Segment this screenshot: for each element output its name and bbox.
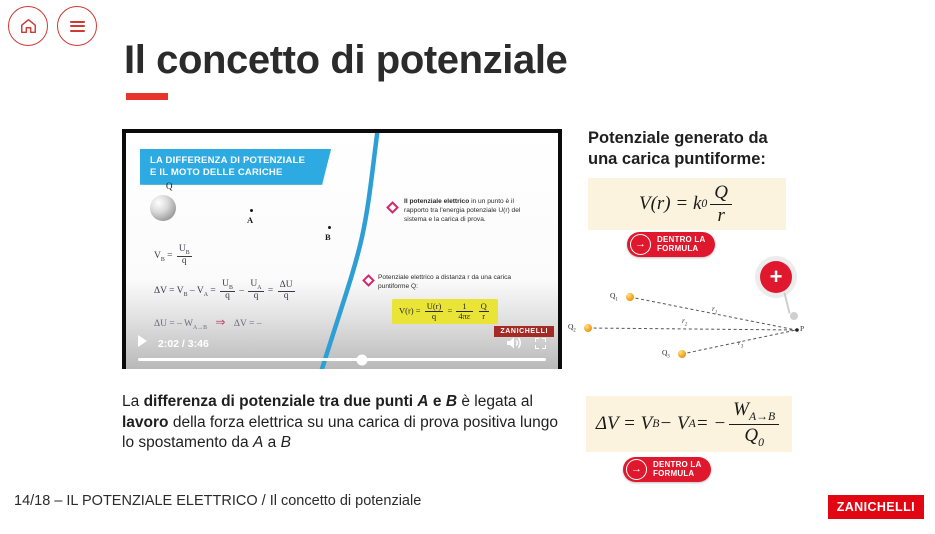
video-player[interactable]: LA DIFFERENZA DI POTENZIALE E IL MOTO DE…: [122, 129, 562, 369]
video-banner: LA DIFFERENZA DI POTENZIALE E IL MOTO DE…: [140, 149, 331, 185]
formula-box-potential: V(r) = k0 Q r: [588, 178, 786, 230]
video-annotation-1-bold: Il potenziale elettrico: [404, 198, 469, 205]
marker-diamond-1: [386, 201, 399, 214]
source-charge-sphere: [150, 195, 176, 221]
arrow-right-icon: →: [635, 239, 646, 250]
play-icon[interactable]: [138, 335, 147, 347]
zoom-in-button[interactable]: +: [755, 256, 797, 298]
home-icon: [20, 18, 37, 34]
video-formula-1: VB = UBq: [154, 245, 297, 267]
zoom-connector-dot: [790, 312, 798, 320]
video-progress-bar[interactable]: [138, 358, 546, 361]
video-annotation-2: Potenziale elettrico a distanza r da una…: [378, 273, 518, 291]
caption-bold3: lavoro: [122, 414, 169, 431]
right-heading: Potenziale generato da una carica puntif…: [588, 128, 828, 169]
video-controls[interactable]: 2:02 / 3:46 ZANICHELLI: [126, 325, 558, 369]
dentro-la-formula-button-2[interactable]: → DENTRO LA FORMULA: [623, 457, 711, 482]
formula2-sub-b: B: [652, 417, 659, 431]
caption-part4: a: [263, 434, 280, 451]
video-time-display: 2:02 / 3:46: [158, 338, 209, 350]
footer-breadcrumb: 14/18 – IL POTENZIALE ELETTRICO / Il con…: [14, 493, 421, 509]
video-watermark: ZANICHELLI: [494, 326, 554, 337]
charge-dot-3: [678, 350, 686, 358]
charge-label-1: Q1: [610, 291, 618, 303]
plus-icon: +: [760, 261, 792, 293]
slide: Il concetto di potenziale LA DIFFERENZA …: [0, 0, 935, 534]
dentro-line2: FORMULA: [657, 245, 705, 254]
video-caption: La differenza di potenziale tra due punt…: [122, 392, 564, 454]
formula2-lhs: ΔV = V: [596, 413, 652, 435]
distance-label-2: r2: [682, 316, 687, 328]
arrow-circle-icon: →: [626, 459, 647, 480]
source-charge-label: Q: [166, 181, 173, 191]
video-banner-line2: E IL MOTO DELLE CARICHE: [150, 167, 305, 179]
title-underline: [126, 93, 168, 100]
formula1-lhs: V(r) = k: [639, 193, 701, 215]
caption-part1: La: [122, 393, 144, 410]
caption-italic4: B: [281, 434, 291, 451]
volume-icon[interactable]: [506, 336, 522, 350]
charge-label-3: Q3: [662, 348, 670, 360]
caption-italic1: A: [417, 393, 428, 410]
point-b-dot: [328, 226, 331, 229]
formula2-numerator: WA→B: [729, 400, 779, 425]
formula2-minus: − V: [659, 413, 688, 435]
marker-diamond-2: [362, 274, 375, 287]
dentro-la-formula-button-1[interactable]: → DENTRO LA FORMULA: [627, 232, 715, 257]
formula2-denominator: Q0: [740, 425, 768, 449]
right-heading-line2: una carica puntiforme:: [588, 149, 828, 170]
right-heading-line1: Potenziale generato da: [588, 128, 828, 149]
distance-label-3: r3: [738, 338, 743, 350]
hamburger-menu-icon: [70, 21, 85, 32]
arrow-circle-icon: →: [630, 234, 651, 255]
formula1-sub: 0: [701, 197, 707, 211]
formula1-denominator: r: [713, 205, 728, 225]
charge-dot-1: [626, 293, 634, 301]
dentro-label-1: DENTRO LA FORMULA: [657, 236, 705, 254]
caption-italic2: B: [446, 393, 457, 410]
arrow-right-icon: →: [631, 464, 642, 475]
video-annotation-1: Il potenziale elettrico in un punto è il…: [404, 197, 532, 224]
point-a-label: A: [247, 215, 253, 225]
caption-bold1: differenza di potenziale tra due punti: [144, 393, 418, 410]
dentro-line2: FORMULA: [653, 470, 701, 479]
caption-bold2: e: [429, 393, 446, 410]
video-frame: LA DIFFERENZA DI POTENZIALE E IL MOTO DE…: [126, 133, 558, 369]
formula2-eq: = −: [696, 413, 726, 435]
point-p-label: P: [800, 324, 804, 333]
formula-delta-v: ΔV = VB − VA = − WA→B Q0: [596, 400, 782, 449]
formula1-numerator: Q: [710, 183, 732, 204]
page-title: Il concetto di potenziale: [124, 40, 567, 80]
charge-label-2: Q2: [568, 322, 576, 334]
caption-part3: della forza elettrica su una carica di p…: [122, 414, 558, 452]
video-yellow-formula: V(r) = U(r)q = 14πε Qr: [392, 299, 498, 324]
video-formula-2: ΔV = VB – VA = UBq – UAq = ΔUq: [154, 280, 297, 302]
dentro-label-2: DENTRO LA FORMULA: [653, 461, 701, 479]
menu-button[interactable]: [57, 6, 97, 46]
formula-box-delta-v: ΔV = VB − VA = − WA→B Q0: [586, 396, 792, 452]
formula-potential: V(r) = k0 Q r: [639, 183, 735, 225]
caption-part2: è legata al: [457, 393, 533, 410]
video-banner-line1: LA DIFFERENZA DI POTENZIALE: [150, 155, 305, 167]
charge-dot-2: [584, 324, 592, 332]
fullscreen-icon[interactable]: [535, 338, 546, 349]
caption-italic3: A: [253, 434, 263, 451]
video-progress-handle[interactable]: [357, 354, 368, 365]
formula2-sub-a: A: [689, 417, 696, 431]
home-button[interactable]: [8, 6, 48, 46]
distance-label-1: r1: [712, 304, 717, 316]
point-a-dot: [250, 209, 253, 212]
point-b-label: B: [325, 232, 331, 242]
zanichelli-logo: ZANICHELLI: [828, 495, 924, 519]
nav-icons: [8, 6, 97, 46]
